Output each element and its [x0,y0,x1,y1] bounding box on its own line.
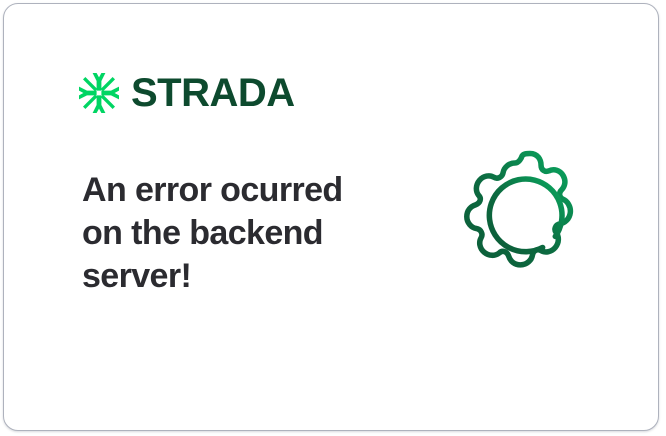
error-card: STRADA An error ocurred on the backend s… [3,3,659,431]
brand-wordmark: STRADA [131,73,295,113]
strada-asterisk-icon [79,73,119,113]
brand-lockup: STRADA [79,73,295,113]
gear-cog-icon [451,144,609,302]
error-headline: An error ocurred on the backend server! [82,169,372,298]
